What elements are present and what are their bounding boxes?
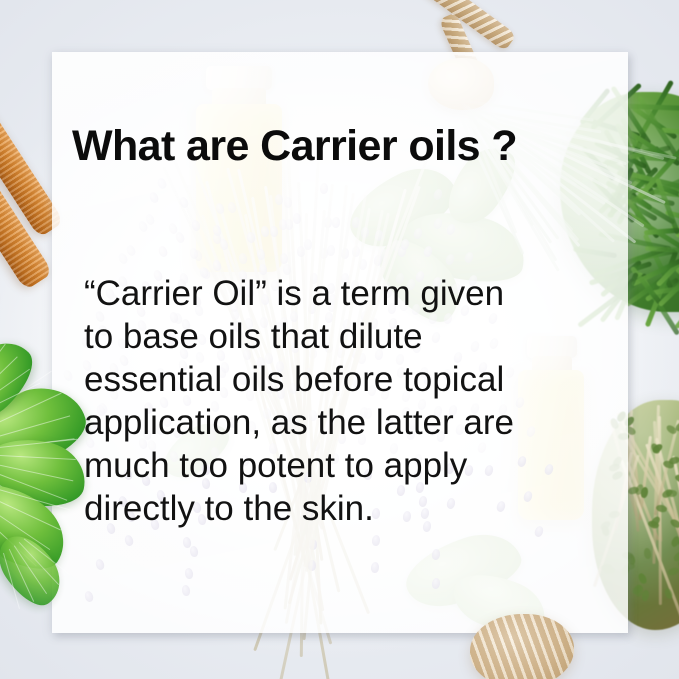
mint-leaf-vein [0, 455, 76, 461]
twine-bundle [470, 614, 574, 679]
mint-leaf-vein [0, 415, 70, 441]
mint-leaf-vein [3, 553, 20, 609]
infographic-canvas: What are Carrier oils ? “Carrier Oil” is… [0, 0, 679, 679]
photo-props-front-layer [0, 0, 679, 679]
